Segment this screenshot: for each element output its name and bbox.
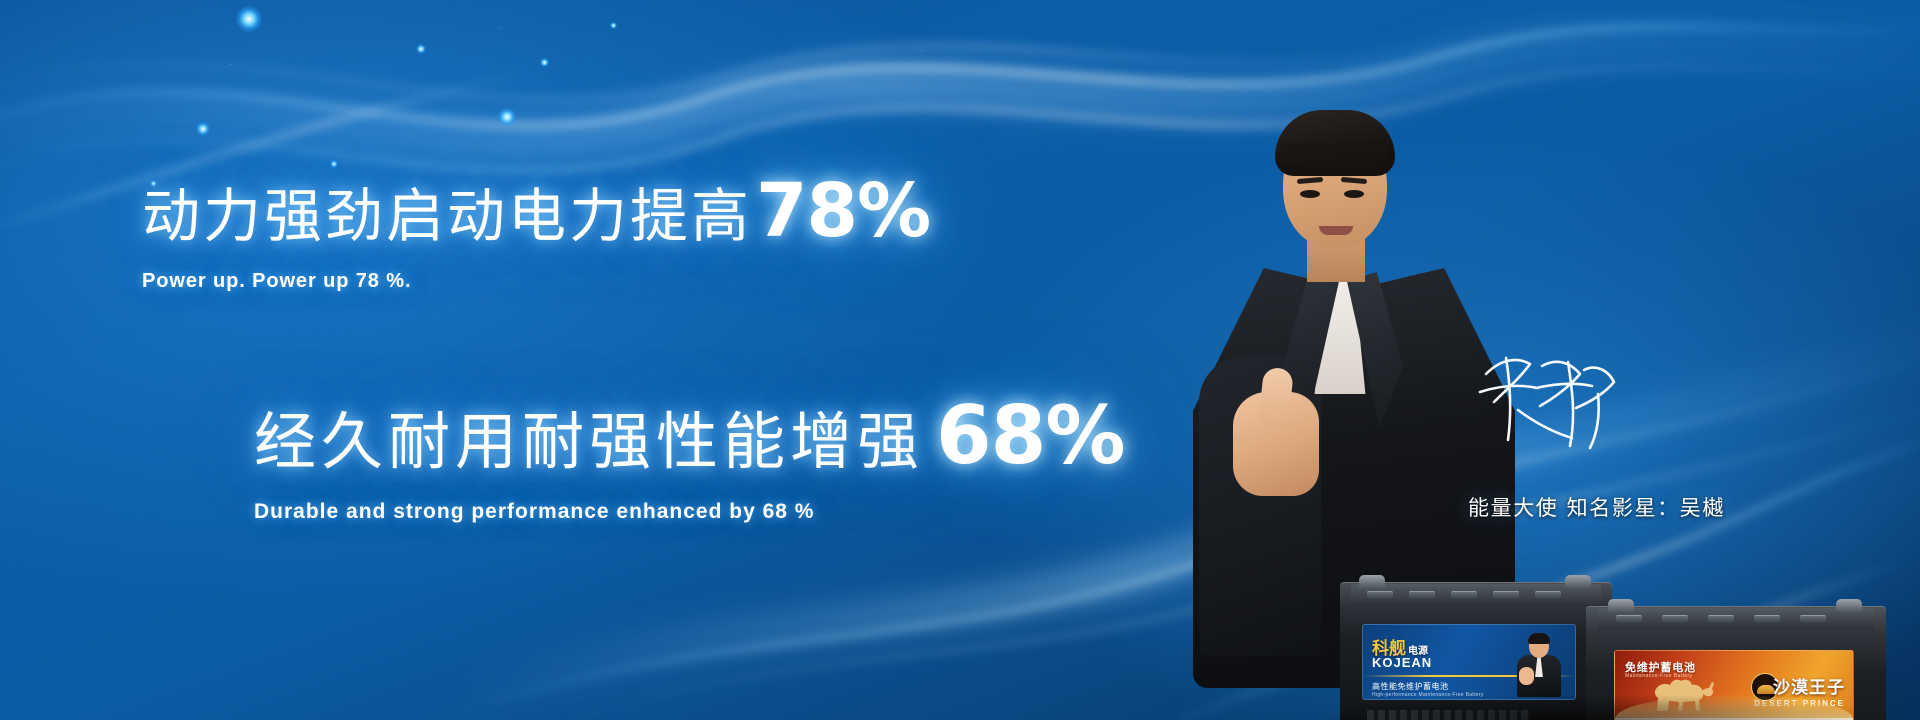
mouth <box>1319 226 1353 235</box>
battery-desert-prince: 免维护蓄电池 Maintenance-Free Battery 沙漠王子 DES… <box>1586 606 1886 720</box>
kojean-tagline-cn: 高性能免维护蓄电池 <box>1372 681 1449 692</box>
headline-1: 动力强劲启动电力提高 78% <box>142 168 1142 254</box>
subline-2: Durable and strong performance enhanced … <box>254 500 1142 524</box>
headline-2-text: 经久耐用耐强性能增强 <box>254 391 924 481</box>
marketing-copy: 动力强劲启动电力提高 78% Power up. Power up 78 %. … <box>142 168 1142 524</box>
kojean-brand-en: KOJEAN <box>1372 655 1432 670</box>
battery-vent <box>1662 615 1688 623</box>
ambassador-caption: 能量大使 知名影星：吴樾 <box>1468 492 1725 522</box>
battery-label-kojean: 科舰电源 KOJEAN 高性能免维护蓄电池 High-performance M… <box>1362 624 1576 700</box>
eye-left <box>1300 190 1320 198</box>
glow-dot <box>196 122 210 136</box>
battery-vent <box>1754 615 1780 623</box>
battery-top-cover <box>1598 608 1874 630</box>
battery-grille <box>1367 710 1530 720</box>
battery-vent <box>1493 591 1519 599</box>
battery-top-cover <box>1351 584 1601 606</box>
battery-vent <box>1616 615 1642 623</box>
glow-dot <box>498 108 516 126</box>
battery-vent <box>1800 615 1826 623</box>
battery-terminal-positive <box>1359 575 1385 589</box>
battery-kojean: 科舰电源 KOJEAN 高性能免维护蓄电池 High-performance M… <box>1340 582 1612 720</box>
battery-vent <box>1367 591 1393 599</box>
glow-dot <box>540 58 549 67</box>
battery-terminal-positive <box>1608 599 1634 613</box>
subline-1: Power up. Power up 78 %. <box>142 270 1142 293</box>
battery-terminal-negative <box>1836 599 1862 613</box>
message-block-1: 动力强劲启动电力提高 78% Power up. Power up 78 %. <box>142 168 1142 293</box>
battery-vent <box>1535 591 1561 599</box>
battery-vent <box>1409 591 1435 599</box>
eye-right <box>1344 190 1364 198</box>
headline-2: 经久耐用耐强性能增强 68% <box>254 389 1142 482</box>
glow-dot <box>330 160 338 168</box>
message-block-2: 经久耐用耐强性能增强 68% Durable and strong perfor… <box>142 389 1142 524</box>
glow-dot <box>236 6 262 32</box>
thumbnail-hair <box>1528 633 1550 644</box>
headline-1-number: 78% <box>756 168 930 254</box>
battery-base <box>1340 702 1612 720</box>
spokesperson-hair <box>1275 110 1395 176</box>
thumbnail-hand <box>1519 667 1534 685</box>
headline-2-number: 68% <box>936 389 1124 482</box>
battery-vent <box>1708 615 1734 623</box>
glow-dot <box>610 22 617 29</box>
battery-label-desert-prince: 免维护蓄电池 Maintenance-Free Battery 沙漠王子 DES… <box>1614 650 1854 720</box>
label-spokesperson-thumbnail <box>1513 631 1565 697</box>
promotional-banner: 动力强劲启动电力提高 78% Power up. Power up 78 %. … <box>0 0 1920 720</box>
headline-1-text: 动力强劲启动电力提高 <box>142 169 752 253</box>
battery-terminal-negative <box>1565 575 1591 589</box>
desert-brand-cn: 沙漠王子 <box>1754 673 1845 698</box>
battery-products: 科舰电源 KOJEAN 高性能免维护蓄电池 High-performance M… <box>1340 548 1920 720</box>
kojean-tagline-en: High-performance Maintenance-Free Batter… <box>1372 692 1484 698</box>
camel-icon <box>1645 671 1719 715</box>
battery-vent <box>1451 591 1477 599</box>
glow-dot <box>416 44 426 54</box>
